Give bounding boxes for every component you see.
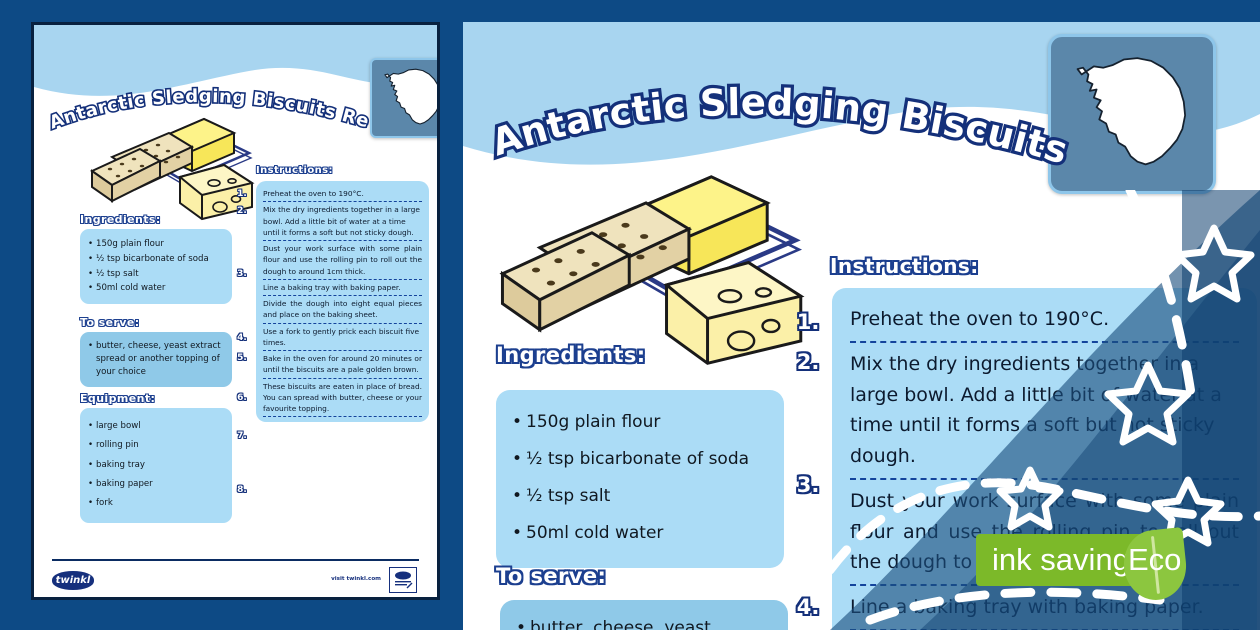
- instruction-text: Bake in the oven for around 20 minutes o…: [263, 353, 422, 376]
- divider: [263, 295, 422, 296]
- divider: [263, 350, 422, 351]
- step-number: 1.: [234, 189, 250, 199]
- step-number: 4.: [793, 595, 823, 619]
- antarctica-silhouette: [377, 65, 440, 131]
- step-number: 4.: [234, 333, 250, 343]
- list-item: rolling pin: [88, 436, 224, 455]
- instruction-text: Preheat the oven to 190°C.: [263, 188, 422, 199]
- biscuits-butter-cheese-illustration: [485, 147, 835, 367]
- divider: [263, 323, 422, 324]
- ink-saving-label: ink saving: [976, 534, 1144, 586]
- step-number: 5.: [234, 353, 250, 363]
- list-item: baking tray: [88, 456, 224, 475]
- instruction-text: Line a baking tray with baking paper.: [850, 592, 1239, 623]
- list-item: 50ml cold water: [88, 281, 224, 296]
- step-number: 1.: [793, 310, 823, 334]
- equipment-heading: Equipment:: [80, 392, 155, 405]
- to-serve-list: butter, cheese, yeast extract spread or …: [88, 340, 224, 379]
- antarctica-map-icon: [1048, 34, 1216, 194]
- step-number: 7.: [234, 431, 250, 441]
- visit-twinkl-link[interactable]: visit twinkl.com: [331, 576, 381, 582]
- list-item: ½ tsp salt: [88, 267, 224, 282]
- screenshot-root: Antarctic Sledging Biscuits Recipe: [0, 0, 1260, 630]
- instruction-text: These biscuits are eaten in place of bre…: [263, 381, 422, 415]
- list-item: fork: [88, 494, 224, 513]
- divider: [263, 378, 422, 379]
- eco-label: Eco: [1128, 542, 1181, 578]
- ingredients-list: 150g plain flour ½ tsp bicarbonate of so…: [512, 404, 768, 552]
- instructions-heading: Instructions:: [256, 165, 333, 176]
- instruction-text: Line a baking tray with baking paper.: [263, 282, 422, 293]
- list-item: large bowl: [88, 417, 224, 436]
- to-serve-heading: To serve:: [80, 316, 140, 329]
- divider: [263, 201, 422, 202]
- instruction-text: Divide the dough into eight equal pieces…: [263, 298, 422, 321]
- divider: [263, 279, 422, 280]
- list-item: ½ tsp bicarbonate of soda: [512, 441, 768, 478]
- to-serve-heading: To serve:: [496, 564, 606, 588]
- list-item: 150g plain flour: [512, 404, 768, 441]
- thumbnail-page: Antarctic Sledging Biscuits Recipe: [34, 25, 437, 597]
- divider: [263, 416, 422, 417]
- ingredients-box: 150g plain flour ½ tsp bicarbonate of so…: [496, 390, 784, 568]
- equipment-list: large bowl rolling pin baking tray bakin…: [88, 417, 224, 514]
- twinkl-logo[interactable]: twinkl: [52, 571, 94, 590]
- list-item: ½ tsp bicarbonate of soda: [88, 252, 224, 267]
- biscuits-butter-cheese-illustration: [84, 103, 269, 221]
- step-number: 3.: [234, 269, 250, 279]
- antarctica-map-icon: [370, 58, 440, 138]
- instructions-heading: Instructions:: [830, 254, 979, 278]
- instruction-text: Mix the dry ingredients together in a la…: [850, 349, 1239, 472]
- page-footer: twinkl visit twinkl.com: [34, 559, 437, 600]
- instruction-text: Use a fork to gently prick each biscuit …: [263, 326, 422, 349]
- step-number: 3.: [793, 473, 823, 497]
- step-number: 2.: [793, 350, 823, 374]
- instruction-text: Dust your work surface with some plain f…: [263, 243, 422, 277]
- instruction-text: Mix the dry ingredients together in a la…: [263, 204, 422, 238]
- list-item: butter, cheese, yeast extract spread or …: [88, 340, 224, 379]
- step-number: 8.: [234, 485, 250, 495]
- divider: [850, 478, 1239, 480]
- twinkl-stamp-icon: [389, 567, 417, 593]
- list-item: butter, cheese, yeast extract spread or …: [516, 614, 772, 630]
- equipment-box: large bowl rolling pin baking tray bakin…: [80, 408, 232, 523]
- recipe-preview-thumbnail[interactable]: Antarctic Sledging Biscuits Recipe: [31, 22, 440, 600]
- stamp-glyph: [392, 570, 414, 590]
- antarctica-silhouette: [1062, 50, 1202, 178]
- list-item: ½ tsp salt: [512, 478, 768, 515]
- ingredients-heading: Ingredients:: [80, 213, 161, 226]
- to-serve-list: butter, cheese, yeast extract spread or …: [516, 614, 772, 630]
- ingredients-heading: Ingredients:: [496, 343, 646, 367]
- ink-saving-eco-badge: ink saving Eco: [976, 534, 1206, 586]
- to-serve-box: butter, cheese, yeast extract spread or …: [80, 332, 232, 387]
- instruction-text: Preheat the oven to 190°C.: [850, 304, 1239, 335]
- step-number: 2.: [234, 206, 250, 216]
- list-item: 50ml cold water: [512, 515, 768, 552]
- divider: [850, 341, 1239, 343]
- list-item: 150g plain flour: [88, 237, 224, 252]
- to-serve-box: butter, cheese, yeast extract spread or …: [500, 600, 788, 630]
- step-number: 6.: [234, 393, 250, 403]
- list-item: baking paper: [88, 475, 224, 494]
- divider: [263, 240, 422, 241]
- instructions-box: Preheat the oven to 190°C. Mix the dry i…: [256, 181, 429, 422]
- ingredients-list: 150g plain flour ½ tsp bicarbonate of so…: [88, 237, 224, 296]
- ingredients-box: 150g plain flour ½ tsp bicarbonate of so…: [80, 229, 232, 304]
